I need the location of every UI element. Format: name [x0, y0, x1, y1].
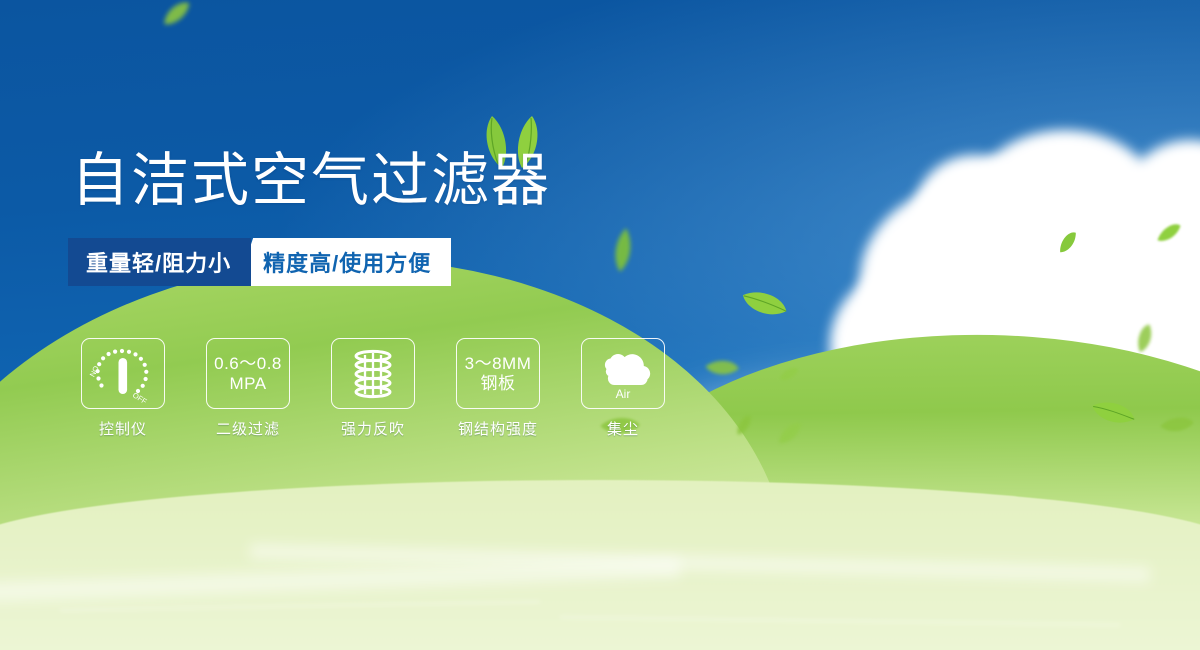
subtitle-bar: 重量轻/阻力小 精度高/使用方便: [68, 238, 451, 286]
steel-material: 钢板: [465, 374, 532, 394]
meadow-ground: [0, 460, 1200, 650]
subtitle-left: 重量轻/阻力小: [68, 238, 251, 286]
feature-label: 控制仪: [99, 418, 147, 439]
filter-cartridge-icon: [331, 338, 415, 409]
leaf-top-left: [158, 0, 196, 30]
subtitle-right: 精度高/使用方便: [237, 238, 451, 286]
pressure-unit: MPA: [214, 374, 282, 394]
steel-thickness: 3～8MM: [465, 354, 532, 374]
feature-label: 二级过滤: [216, 418, 280, 439]
svg-text:OFF: OFF: [131, 390, 149, 403]
pressure-text-icon: 0.6～0.8 MPA: [206, 338, 290, 409]
feature-item-steel[interactable]: 3～8MM 钢板 钢结构强度: [456, 338, 540, 439]
leaf-mid-3: [703, 353, 742, 383]
page-title: 自洁式空气过滤器: [71, 146, 551, 216]
feature-item-dust[interactable]: Air 集尘: [581, 338, 665, 439]
feature-label: 强力反吹: [341, 418, 405, 439]
feature-list: NO OFF 控制仪 0.6～0.8 MPA 二级过滤: [81, 338, 665, 439]
feature-item-blowback[interactable]: 强力反吹: [331, 338, 415, 439]
product-banner: 自洁式空气过滤器 重量轻/阻力小 精度高/使用方便: [0, 0, 1200, 650]
feature-item-control[interactable]: NO OFF 控制仪: [81, 338, 165, 439]
leaf-mid-2: [736, 278, 791, 330]
steel-plate-text-icon: 3～8MM 钢板: [456, 338, 540, 409]
leaf-mid-1: [609, 227, 637, 274]
feature-label: 钢结构强度: [458, 418, 538, 439]
pressure-value: 0.6～0.8: [214, 354, 282, 374]
air-cloud-icon: Air: [581, 338, 665, 409]
feature-label: 集尘: [607, 418, 639, 439]
air-label: Air: [616, 387, 631, 401]
control-dial-gauge-icon: NO OFF: [81, 338, 165, 409]
feature-item-pressure[interactable]: 0.6～0.8 MPA 二级过滤: [206, 338, 290, 439]
